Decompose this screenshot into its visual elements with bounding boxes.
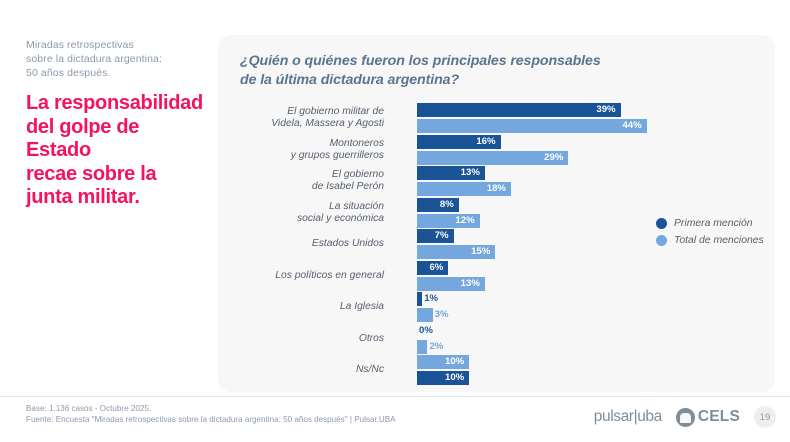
legend-label: Total de menciones: [674, 235, 764, 246]
chart-row: Ns/Nc10%10%: [228, 355, 775, 385]
page-number-badge: 19: [754, 406, 776, 428]
pulsar-uba-logo: pulsar|uba: [594, 408, 662, 426]
chart-row: Otros0%2%: [228, 324, 775, 354]
bar-fill: [417, 308, 433, 322]
chart-row: El gobierno militar de Videla, Massera y…: [228, 103, 775, 133]
bar-value-label: 0%: [417, 324, 433, 338]
chart-legend: Primera menciónTotal de menciones: [656, 215, 764, 249]
chart-title: ¿Quién o quiénes fueron los principales …: [240, 52, 740, 90]
bar-value-label: 1%: [422, 292, 438, 306]
cels-logo-text: CELS: [698, 408, 740, 426]
bar-value-label: 39%: [596, 103, 620, 117]
chart-row: El gobierno de Isabel Perón13%18%: [228, 166, 775, 196]
cels-logo: CELS: [676, 408, 740, 427]
bar-value-label: 2%: [427, 340, 443, 354]
category-label: Los políticos en general: [204, 270, 384, 282]
legend-label: Primera mención: [674, 218, 753, 229]
footnote-text: Base: 1.136 casos - Octubre 2025. Fuente…: [26, 403, 396, 425]
bar-value-label: 8%: [440, 198, 459, 212]
chart-row: La Iglesia1%3%: [228, 292, 775, 322]
legend-item: Total de menciones: [656, 232, 764, 249]
chart-panel: ¿Quién o quiénes fueron los principales …: [218, 35, 775, 392]
bar-value-label: 10%: [445, 355, 469, 369]
category-label: La situación social y económica: [204, 201, 384, 225]
category-label: El gobierno militar de Videla, Massera y…: [204, 106, 384, 130]
bar-fill: [417, 103, 621, 117]
chart-row: Los políticos en general6%13%: [228, 261, 775, 291]
bar-value-label: 15%: [471, 245, 495, 259]
bar-value-label: 10%: [445, 371, 469, 385]
bar-value-label: 29%: [544, 151, 568, 165]
category-label: Ns/Nc: [204, 364, 384, 376]
category-label: Montoneros y grupos guerrilleros: [204, 138, 384, 162]
legend-item: Primera mención: [656, 215, 764, 232]
bar-value-label: 16%: [476, 135, 500, 149]
legend-dot-icon: [656, 218, 667, 229]
cels-mark-icon: [676, 408, 695, 427]
headline-text: La responsabilidad del golpe de Estado r…: [26, 92, 206, 210]
category-label: Otros: [204, 333, 384, 345]
bar-fill: [417, 119, 647, 133]
brand-bar: pulsar|uba CELS 19: [594, 405, 776, 429]
bar-value-label: 7%: [435, 229, 454, 243]
chart-row: Montoneros y grupos guerrilleros16%29%: [228, 135, 775, 165]
bar-value-label: 13%: [461, 166, 485, 180]
legend-dot-icon: [656, 235, 667, 246]
bar-fill: [417, 340, 427, 354]
eyebrow-text: Miradas retrospectivas sobre la dictadur…: [26, 38, 206, 80]
bar-value-label: 13%: [461, 277, 485, 291]
category-label: La Iglesia: [204, 301, 384, 313]
bar-value-label: 18%: [487, 182, 511, 196]
bar-value-label: 12%: [455, 214, 479, 228]
left-intro-panel: Miradas retrospectivas sobre la dictadur…: [26, 38, 206, 210]
bar-value-label: 44%: [622, 119, 646, 133]
bar-value-label: 6%: [429, 261, 448, 275]
category-label: El gobierno de Isabel Perón: [204, 169, 384, 193]
bar-value-label: 3%: [433, 308, 449, 322]
footer-divider: [0, 396, 790, 397]
category-label: Estados Unidos: [204, 238, 384, 250]
